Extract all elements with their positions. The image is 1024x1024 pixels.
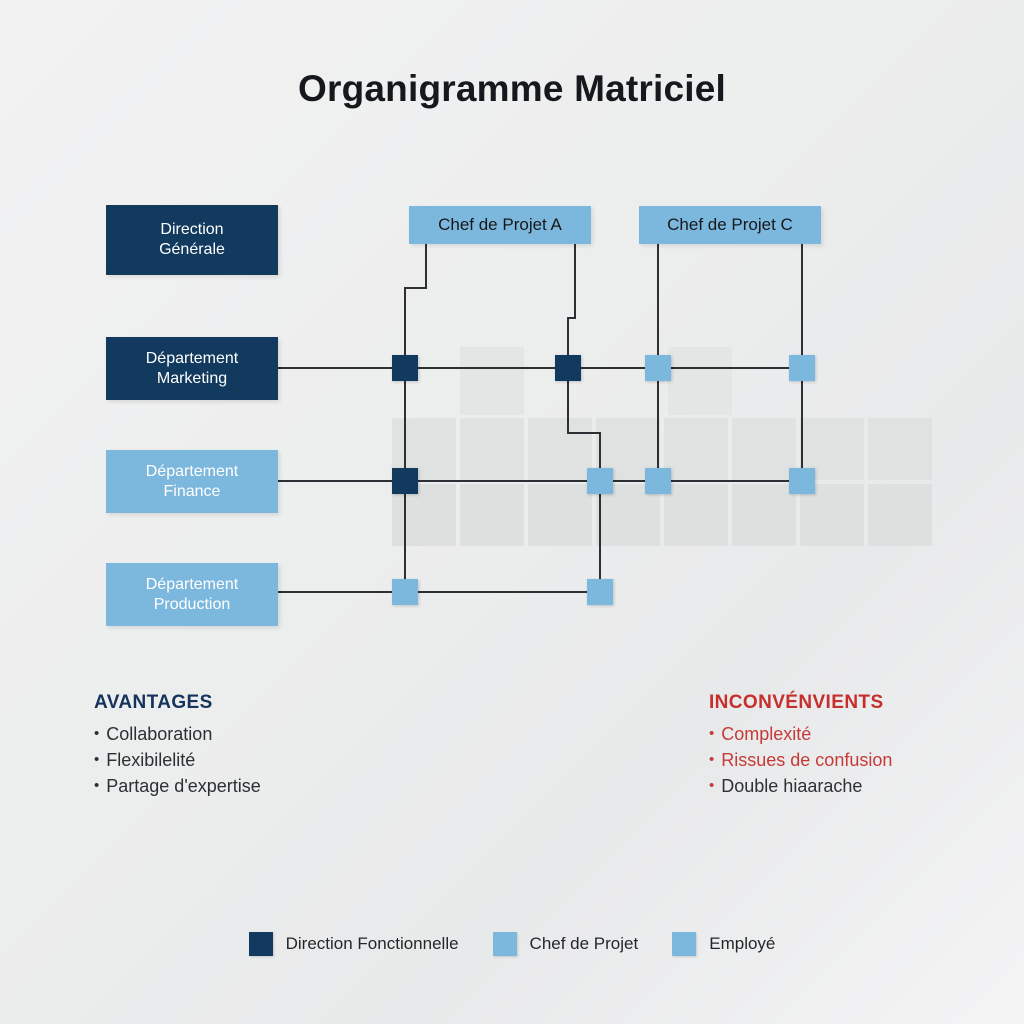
bullet-icon: • bbox=[94, 725, 99, 742]
box-chef-de-projet-c[interactable]: Chef de Projet C bbox=[639, 206, 821, 244]
grid-cell-bg bbox=[668, 347, 732, 415]
matrix-node-marketing-405[interactable] bbox=[392, 355, 418, 381]
box-departement-marketing[interactable]: DépartementMarketing bbox=[106, 337, 278, 400]
matrix-node-finance-658[interactable] bbox=[645, 468, 671, 494]
inconvenients-item-label: Double hiaarache bbox=[721, 776, 862, 796]
bullet-icon: • bbox=[709, 751, 714, 768]
inconvenients-item-label: Complexité bbox=[721, 724, 811, 744]
bullet-icon: • bbox=[709, 777, 714, 794]
project-c-left-leg bbox=[657, 244, 659, 370]
grid-cell-bg bbox=[460, 418, 524, 480]
bullet-icon: • bbox=[94, 751, 99, 768]
avantages-item: •Partage d'expertise bbox=[94, 776, 261, 797]
legend-item-direction-fonctionnelle: Direction Fonctionnelle bbox=[249, 932, 459, 956]
avantages-item-label: Partage d'expertise bbox=[106, 776, 261, 796]
column-connector-600 bbox=[599, 432, 601, 594]
grid-cell-bg bbox=[868, 484, 932, 546]
page-title: Organigramme Matriciel bbox=[0, 68, 1024, 110]
inconvenients-item: •Rissues de confusion bbox=[709, 750, 892, 771]
legend-label: Chef de Projet bbox=[530, 934, 639, 954]
legend: Direction Fonctionnelle Chef de Projet E… bbox=[0, 932, 1024, 956]
matrix-node-marketing-802[interactable] bbox=[789, 355, 815, 381]
matrix-node-finance-802[interactable] bbox=[789, 468, 815, 494]
matrix-node-finance-405[interactable] bbox=[392, 468, 418, 494]
legend-item-employe: Employé bbox=[672, 932, 775, 956]
inconvenients-heading: INCONVÉNVIENTS bbox=[709, 692, 884, 714]
project-c-right-leg bbox=[801, 244, 803, 370]
avantages-item: •Collaboration bbox=[94, 724, 212, 745]
grid-cell-bg bbox=[732, 418, 796, 480]
matrix-node-marketing-658[interactable] bbox=[645, 355, 671, 381]
grid-cell-bg bbox=[460, 484, 524, 546]
box-departement-production[interactable]: DépartementProduction bbox=[106, 563, 278, 626]
legend-swatch-dark-icon bbox=[249, 932, 273, 956]
inconvenients-item-label: Rissues de confusion bbox=[721, 750, 892, 770]
legend-label: Direction Fonctionnelle bbox=[286, 934, 459, 954]
box-departement-finance[interactable]: DépartementFinance bbox=[106, 450, 278, 513]
column-connector-568-down bbox=[567, 380, 569, 433]
box-departement-production-label: DépartementProduction bbox=[140, 575, 245, 614]
grid-cell-bg bbox=[460, 347, 524, 415]
grid-cell-bg bbox=[732, 484, 796, 546]
grid-cell-bg bbox=[664, 418, 728, 480]
legend-label: Employé bbox=[709, 934, 775, 954]
column-connector-568-jog bbox=[567, 432, 601, 434]
bullet-icon: • bbox=[709, 725, 714, 742]
legend-swatch-light-icon bbox=[493, 932, 517, 956]
avantages-item: •Flexibilelité bbox=[94, 750, 195, 771]
bullet-icon: • bbox=[94, 777, 99, 794]
column-connector-802 bbox=[801, 368, 803, 483]
grid-cell-bg bbox=[868, 418, 932, 480]
legend-swatch-light-icon bbox=[672, 932, 696, 956]
project-a-left-leg-top bbox=[425, 244, 427, 288]
legend-item-chef-de-projet: Chef de Projet bbox=[493, 932, 639, 956]
box-chef-de-projet-c-label: Chef de Projet C bbox=[661, 215, 799, 236]
box-chef-de-projet-a[interactable]: Chef de Projet A bbox=[409, 206, 591, 244]
project-a-left-leg-jog bbox=[404, 287, 427, 289]
avantages-item-label: Flexibilelité bbox=[106, 750, 195, 770]
box-departement-marketing-label: DépartementMarketing bbox=[140, 349, 245, 388]
box-direction-generale-label: DirectionGénérale bbox=[153, 220, 231, 259]
column-connector-658 bbox=[657, 368, 659, 483]
project-a-right-leg-top bbox=[574, 244, 576, 318]
avantages-heading: AVANTAGES bbox=[94, 692, 213, 714]
matrix-node-finance-600[interactable] bbox=[587, 468, 613, 494]
avantages-item-label: Collaboration bbox=[106, 724, 212, 744]
row-connector-marketing bbox=[278, 367, 814, 369]
grid-cell-bg bbox=[528, 418, 592, 480]
matrix-node-production-600[interactable] bbox=[587, 579, 613, 605]
row-connector-finance bbox=[278, 480, 814, 482]
matrix-node-marketing-568[interactable] bbox=[555, 355, 581, 381]
organigramme-matriciel-diagram: Organigramme Matriciel DirectionGénér bbox=[0, 0, 1024, 1024]
inconvenients-item: •Double hiaarache bbox=[709, 776, 862, 797]
box-direction-generale[interactable]: DirectionGénérale bbox=[106, 205, 278, 275]
grid-cell-bg bbox=[664, 484, 728, 546]
matrix-node-production-405[interactable] bbox=[392, 579, 418, 605]
inconvenients-item: •Complexité bbox=[709, 724, 811, 745]
box-departement-finance-label: DépartementFinance bbox=[140, 462, 245, 501]
box-chef-de-projet-a-label: Chef de Projet A bbox=[432, 215, 568, 236]
row-connector-production bbox=[278, 591, 612, 593]
grid-cell-bg bbox=[528, 484, 592, 546]
